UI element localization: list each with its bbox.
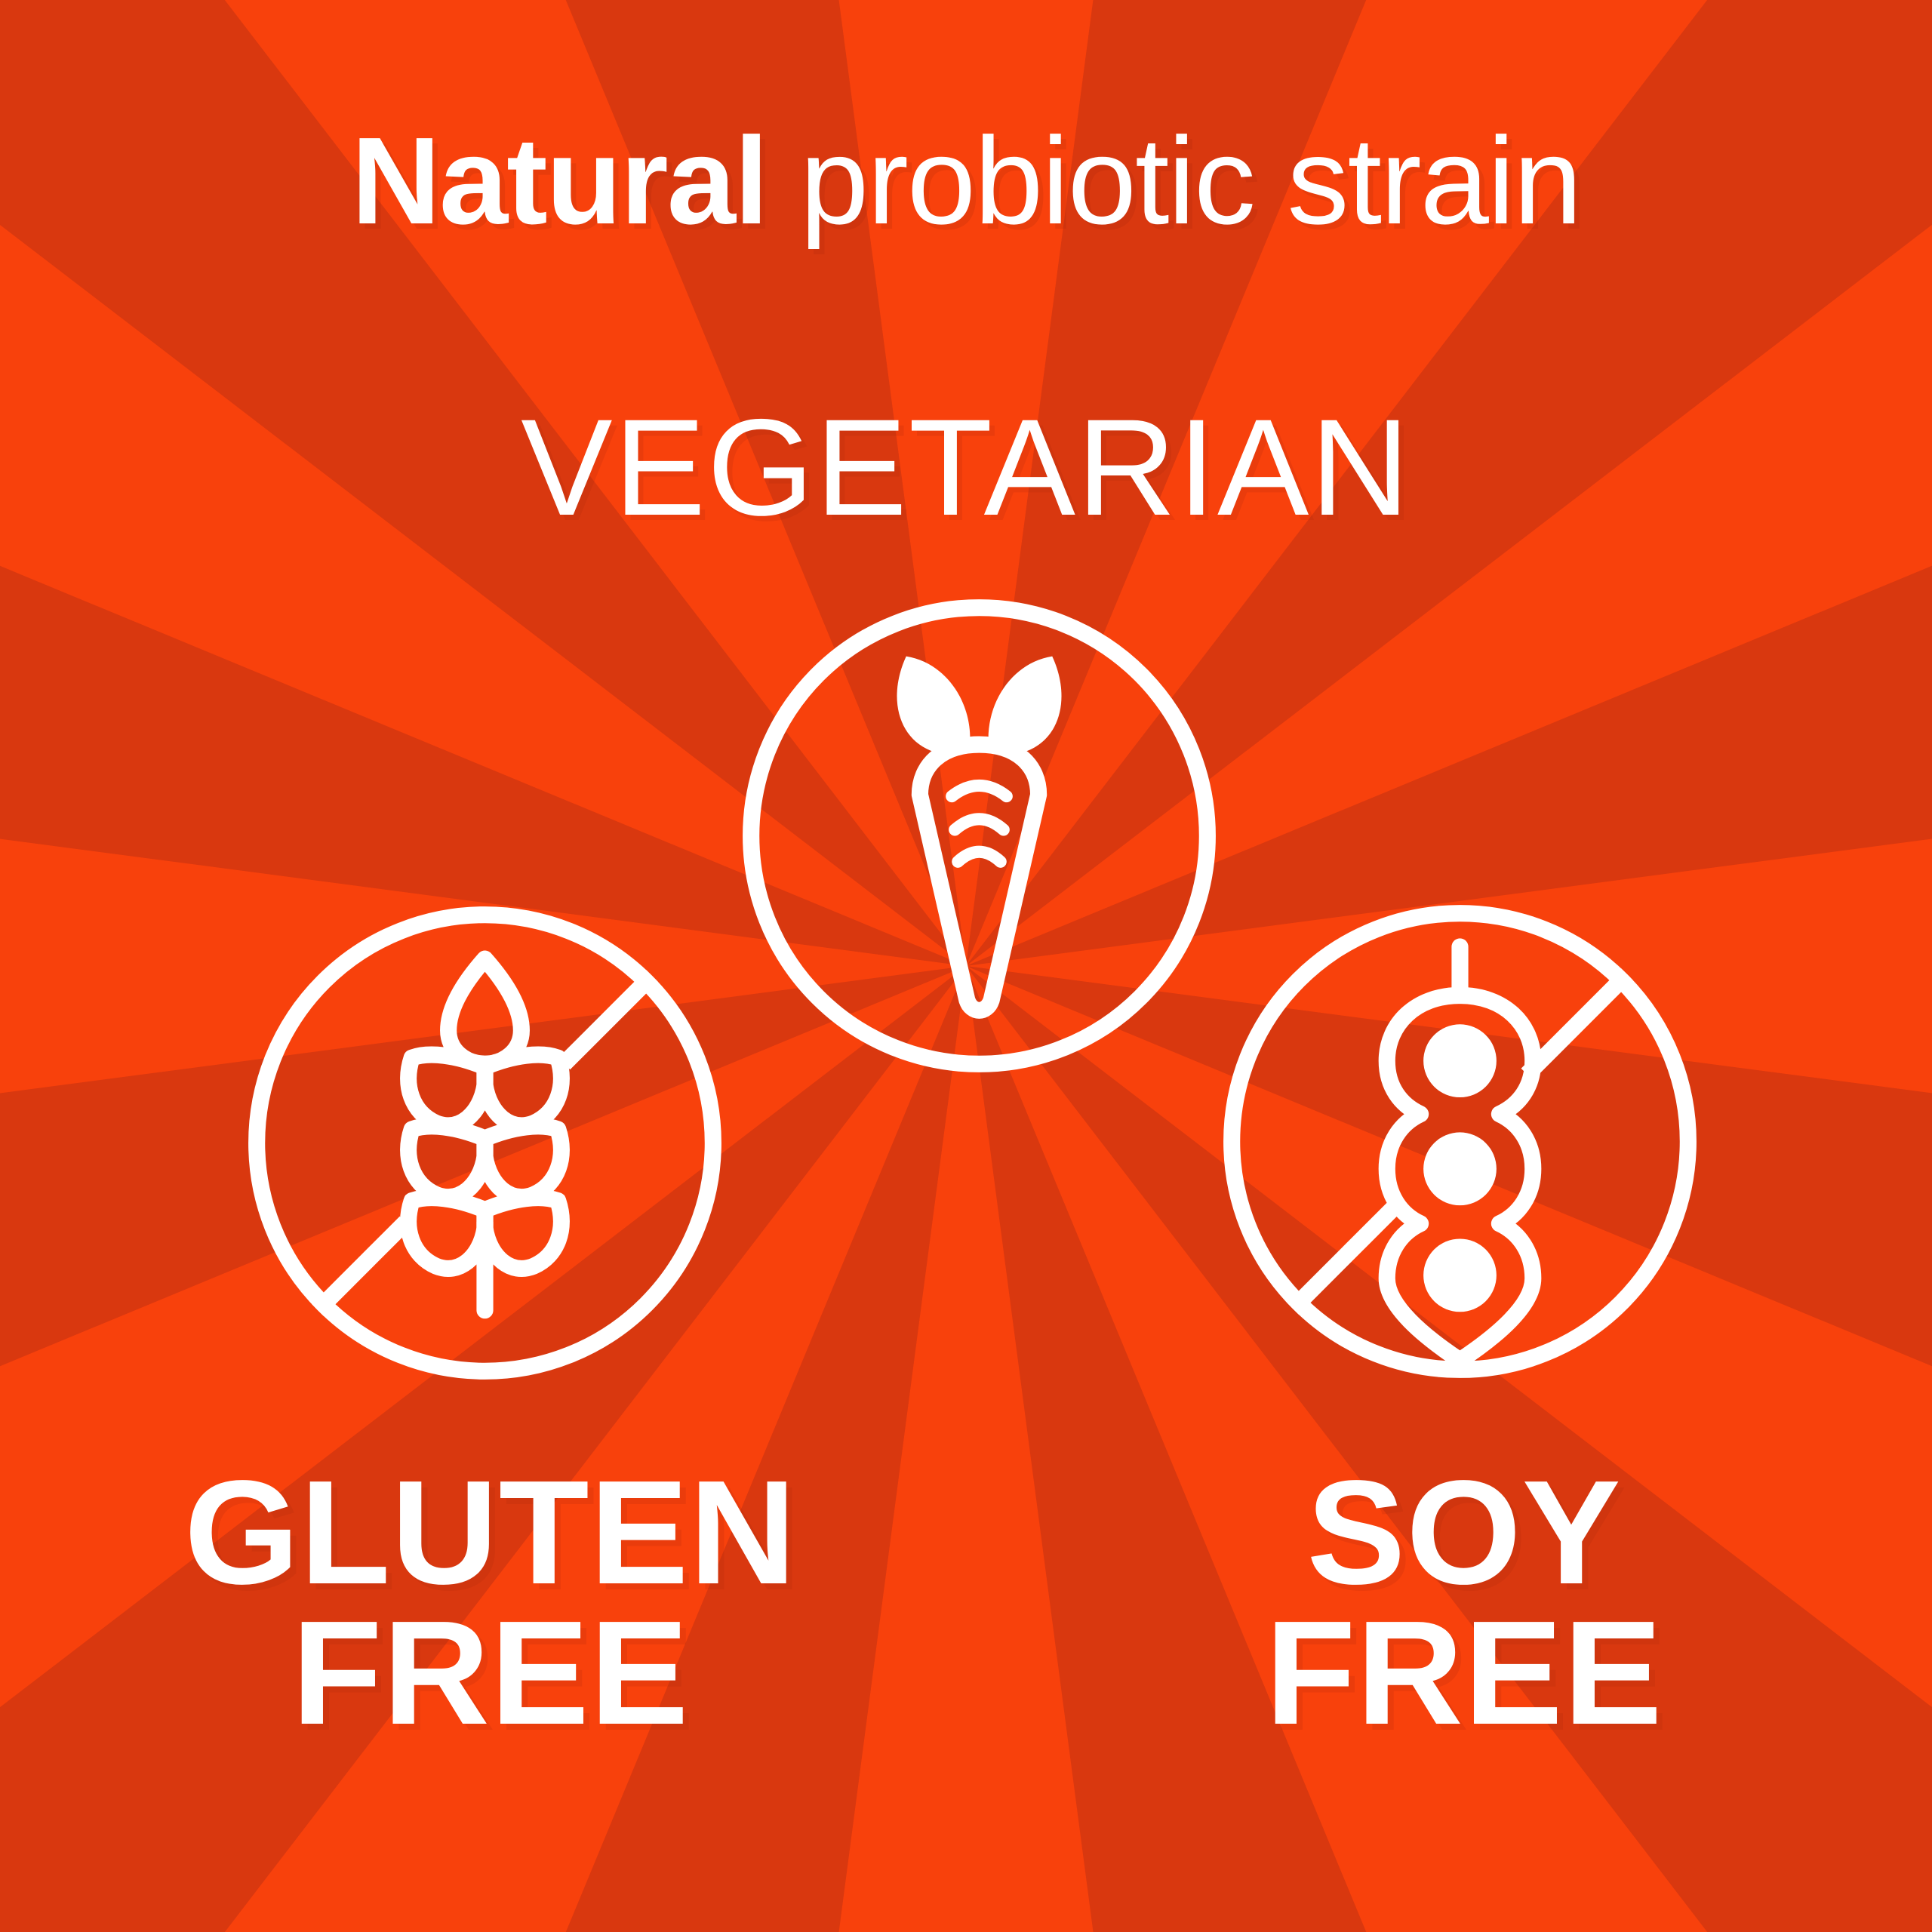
promo-graphic: Natural probiotic strain VEGETARIAN <box>0 0 1932 1932</box>
badge-ring <box>751 608 1207 1064</box>
label-gluten-line2: FREE <box>68 1603 913 1743</box>
carrot-in-circle-icon <box>736 592 1223 1079</box>
badge-gluten-free <box>241 900 728 1386</box>
wheat-stalk-no-symbol-icon <box>241 900 728 1386</box>
carrot-ridge-1 <box>952 786 1007 796</box>
no-symbol-slash-lower <box>1299 1214 1387 1303</box>
wheat-grain-top <box>448 959 521 1064</box>
headline: Natural probiotic strain <box>0 119 1932 243</box>
soy-bean-3 <box>1423 1239 1497 1312</box>
label-soy-free: SOY FREE <box>1109 1463 1819 1743</box>
label-gluten-free: GLUTEN FREE <box>68 1463 913 1743</box>
wheat-grain-3-right <box>485 1198 561 1269</box>
label-soy-line2: FREE <box>1109 1603 1819 1743</box>
carrot-ridge-2 <box>955 819 1004 829</box>
no-symbol-slash-lower <box>324 1228 400 1304</box>
wheat-stalk <box>408 959 561 1311</box>
wheat-grain-3-left <box>408 1198 485 1269</box>
soy-bean-2 <box>1423 1132 1497 1205</box>
wheat-grain-2-right <box>485 1126 561 1197</box>
headline-bold-word: Natural <box>351 112 767 250</box>
wheat-grain-2-left <box>408 1126 485 1197</box>
wheat-grain-1-right <box>485 1055 561 1126</box>
label-gluten-line1: GLUTEN <box>68 1463 913 1603</box>
soy-bean-1 <box>1423 1024 1497 1097</box>
headline-rest: probiotic strain <box>767 112 1580 250</box>
label-soy-line1: SOY <box>1109 1463 1819 1603</box>
wheat-grain-1-left <box>408 1055 485 1126</box>
badge-vegetarian <box>736 592 1223 1079</box>
badge-soy-free <box>1217 898 1703 1385</box>
no-symbol-slash-upper <box>570 982 646 1058</box>
vegetarian-title: VEGETARIAN <box>0 398 1932 536</box>
carrot-ridge-3 <box>958 852 1000 862</box>
no-symbol-slash-upper <box>1533 980 1621 1069</box>
soy-pod-no-symbol-icon <box>1217 898 1703 1385</box>
